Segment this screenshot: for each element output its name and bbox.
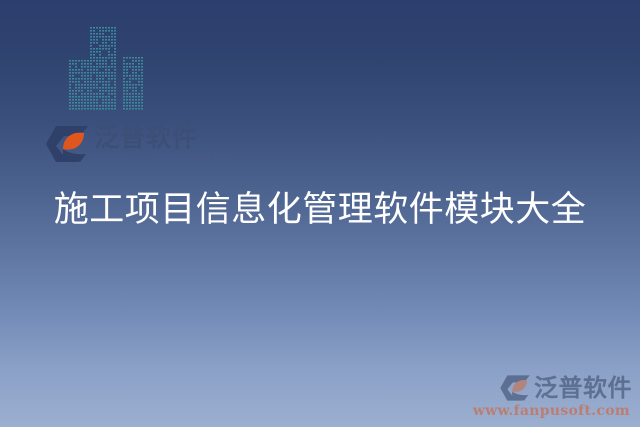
slide-canvas: 泛普软件 FANPU SOFTWARE 施工项目信息化管理软件模块大全 泛普软件… (0, 0, 640, 427)
watermark: 泛普软件 www.fanpusoft.com (473, 374, 632, 419)
watermark-logo-row: 泛普软件 (498, 374, 632, 402)
watermark-url: www.fanpusoft.com (473, 403, 630, 419)
watermark-name-cn: 泛普软件 (534, 375, 632, 401)
page-title: 施工项目信息化管理软件模块大全 (0, 188, 640, 232)
pixel-city-skyline-icon (66, 18, 166, 118)
fanpu-hexagon-arrow-icon (44, 124, 90, 164)
fanpu-logo-text: 泛普软件 FANPU SOFTWARE (94, 124, 234, 166)
fanpu-logo: 泛普软件 FANPU SOFTWARE (44, 124, 234, 166)
logo-name-en: FANPU SOFTWARE (94, 153, 234, 166)
logo-name-cn: 泛普软件 (94, 124, 234, 152)
fanpu-hexagon-arrow-icon (498, 374, 532, 402)
